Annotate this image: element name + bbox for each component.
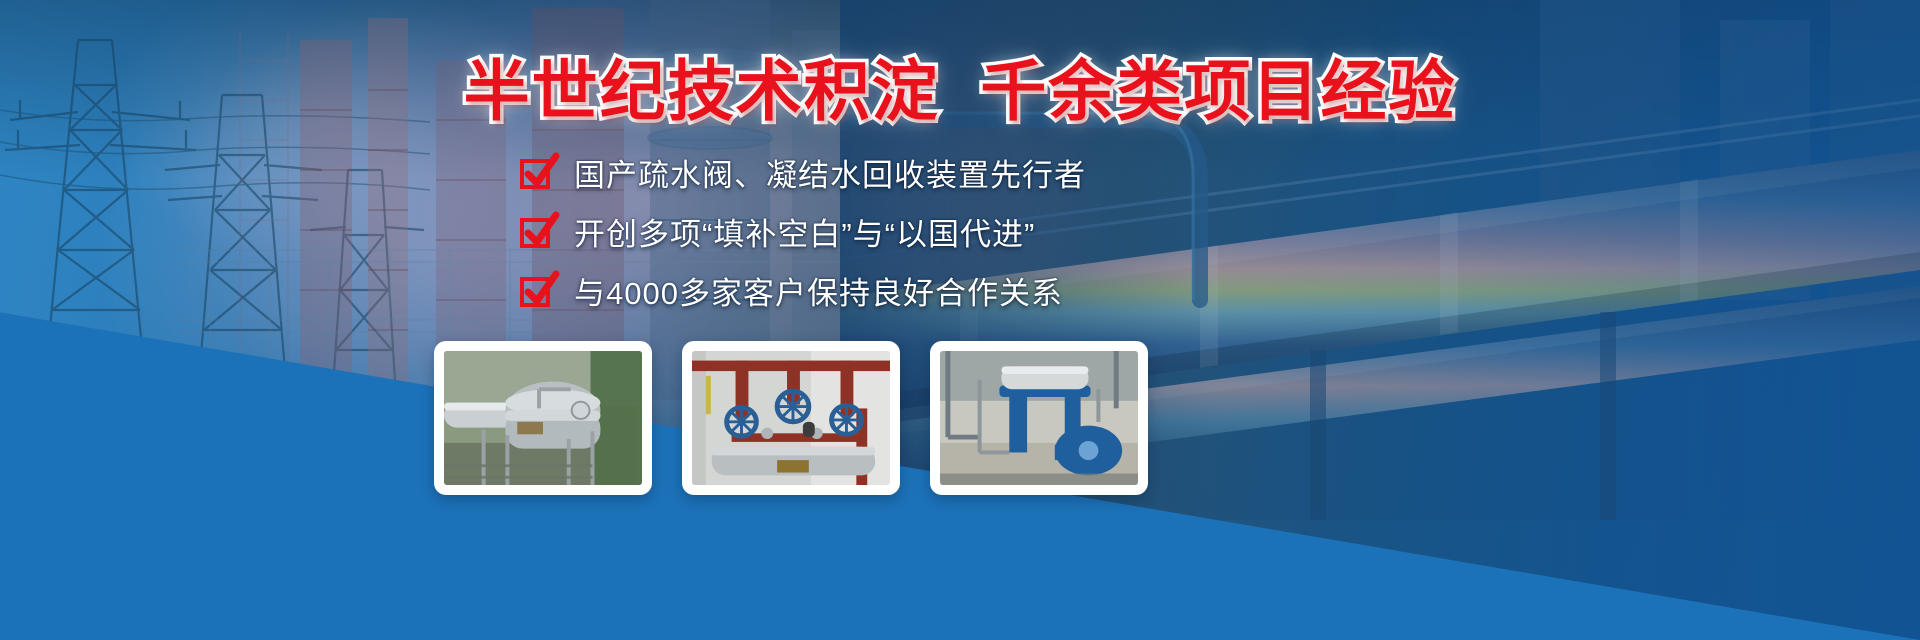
feature-bullet-list: 国产疏水阀、凝结水回收装置先行者 开创多项“填补空白”与“以国代进” 与4000… xyxy=(520,150,1086,313)
list-item: 与4000多家客户保持良好合作关系 xyxy=(520,268,1086,313)
bullet-label: 开创多项“填补空白”与“以国代进” xyxy=(574,209,1035,254)
product-photo-strip xyxy=(434,341,1148,495)
list-item: 国产疏水阀、凝结水回收装置先行者 xyxy=(520,150,1086,195)
bullet-label: 与4000多家客户保持良好合作关系 xyxy=(574,268,1063,313)
banner-headline: 半世纪技术积淀 千余类项目经验 xyxy=(0,38,1920,134)
promotional-banner: 半世纪技术积淀 千余类项目经验 国产疏水阀、凝结水回收装置先行者 开创多项“填补… xyxy=(0,0,1920,640)
list-item: 开创多项“填补空白”与“以国代进” xyxy=(520,209,1086,254)
thumbnail-blue-pressure-tank-skid[interactable] xyxy=(930,341,1148,495)
thumbnail-steam-manifold-blue-valves[interactable] xyxy=(682,341,900,495)
red-check-box-icon xyxy=(520,215,554,249)
red-check-box-icon xyxy=(520,156,554,190)
thumbnail-condensate-recovery-vessel[interactable] xyxy=(434,341,652,495)
bullet-label: 国产疏水阀、凝结水回收装置先行者 xyxy=(574,150,1086,195)
red-check-box-icon xyxy=(520,274,554,308)
